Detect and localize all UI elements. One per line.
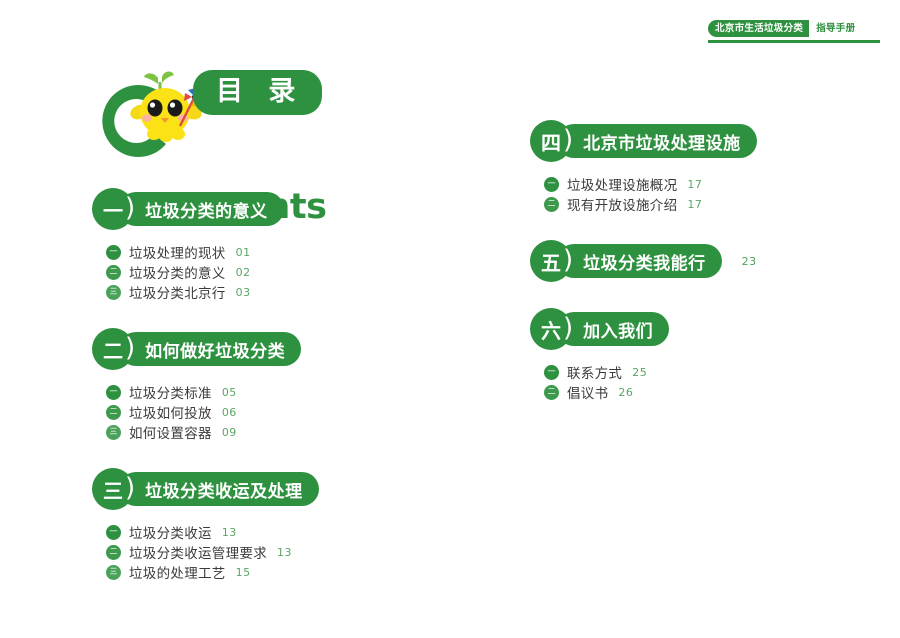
item-page-number: 05: [222, 386, 237, 399]
item-bullet-icon: 一: [106, 525, 121, 540]
item-page-number: 03: [236, 286, 251, 299]
contents-logo: 目 录 ontents: [92, 62, 342, 167]
section-arc-icon: ): [563, 315, 573, 341]
item-bullet-icon: 二: [106, 265, 121, 280]
section-arc-icon: ): [125, 335, 135, 361]
item-label: 垃圾如何投放: [129, 402, 212, 422]
header-badge: 北京市生活垃圾分类: [708, 20, 809, 38]
header-underline: [708, 40, 880, 43]
item-bullet-icon: 一: [106, 385, 121, 400]
item-page-number: 25: [632, 366, 647, 379]
toc-section: 三)垃圾分类收运及处理一垃圾分类收运13二垃圾分类收运管理要求13三垃圾的处理工…: [92, 468, 422, 608]
toc-item[interactable]: 一垃圾处理的现状01: [106, 242, 422, 262]
item-label: 现有开放设施介绍: [567, 194, 677, 214]
section-title: 如何做好垃圾分类: [119, 332, 301, 366]
item-bullet-icon: 三: [106, 565, 121, 580]
section-title: 垃圾分类收运及处理: [119, 472, 319, 506]
toc-section-header[interactable]: 五)垃圾分类我能行23: [530, 240, 860, 282]
toc-item[interactable]: 一垃圾分类收运13: [106, 522, 422, 542]
item-page-number: 15: [236, 566, 251, 579]
header-subtitle: 指导手册: [809, 24, 855, 34]
item-page-number: 13: [277, 546, 292, 559]
section-arc-icon: ): [125, 195, 135, 221]
toc-column-right: 四)北京市垃圾处理设施一垃圾处理设施概况17二现有开放设施介绍17五)垃圾分类我…: [530, 120, 860, 428]
section-arc-icon: ): [563, 127, 573, 153]
toc-section-header[interactable]: 三)垃圾分类收运及处理: [92, 468, 422, 510]
toc-column-left: 一)垃圾分类的意义一垃圾处理的现状01二垃圾分类的意义02三垃圾分类北京行03二…: [92, 188, 422, 608]
item-page-number: 17: [687, 198, 702, 211]
toc-item[interactable]: 一垃圾分类标准05: [106, 382, 422, 402]
toc-item[interactable]: 三垃圾的处理工艺15: [106, 562, 422, 582]
toc-section: 二)如何做好垃圾分类一垃圾分类标准05二垃圾如何投放06三如何设置容器09: [92, 328, 422, 468]
item-label: 联系方式: [567, 362, 622, 382]
section-title: 垃圾分类的意义: [119, 192, 284, 226]
item-label: 垃圾分类收运: [129, 522, 212, 542]
toc-item[interactable]: 二垃圾如何投放06: [106, 402, 422, 422]
item-bullet-icon: 一: [544, 365, 559, 380]
item-label: 垃圾的处理工艺: [129, 562, 226, 582]
toc-section: 一)垃圾分类的意义一垃圾处理的现状01二垃圾分类的意义02三垃圾分类北京行03: [92, 188, 422, 328]
section-spacer: [530, 282, 860, 308]
item-label: 垃圾处理的现状: [129, 242, 226, 262]
contents-badge-cn: 目 录: [193, 70, 322, 115]
toc-item-list: 一垃圾处理设施概况17二现有开放设施介绍17: [530, 174, 860, 214]
item-label: 垃圾分类北京行: [129, 282, 226, 302]
item-bullet-icon: 一: [106, 245, 121, 260]
toc-section: 六)加入我们一联系方式25二倡议书26: [530, 308, 860, 428]
item-label: 如何设置容器: [129, 422, 212, 442]
section-page-number: 23: [742, 255, 757, 268]
item-page-number: 26: [618, 386, 633, 399]
item-bullet-icon: 二: [106, 405, 121, 420]
toc-section: 四)北京市垃圾处理设施一垃圾处理设施概况17二现有开放设施介绍17: [530, 120, 860, 240]
toc-item[interactable]: 二垃圾分类收运管理要求13: [106, 542, 422, 562]
toc-item-list: 一垃圾分类标准05二垃圾如何投放06三如何设置容器09: [92, 382, 422, 442]
toc-section-header[interactable]: 四)北京市垃圾处理设施: [530, 120, 860, 162]
item-page-number: 02: [236, 266, 251, 279]
toc-item[interactable]: 三如何设置容器09: [106, 422, 422, 442]
toc-item-list: 一垃圾分类收运13二垃圾分类收运管理要求13三垃圾的处理工艺15: [92, 522, 422, 582]
item-label: 倡议书: [567, 382, 608, 402]
item-bullet-icon: 三: [106, 425, 121, 440]
section-spacer: [92, 582, 422, 608]
item-label: 垃圾处理设施概况: [567, 174, 677, 194]
section-title: 垃圾分类我能行: [557, 244, 722, 278]
item-label: 垃圾分类收运管理要求: [129, 542, 267, 562]
toc-item[interactable]: 一联系方式25: [544, 362, 860, 382]
section-spacer: [92, 442, 422, 468]
section-arc-icon: ): [563, 247, 573, 273]
section-spacer: [530, 214, 860, 240]
page-header: 北京市生活垃圾分类 指导手册: [708, 20, 880, 42]
toc-section: 五)垃圾分类我能行23: [530, 240, 860, 308]
item-bullet-icon: 二: [544, 385, 559, 400]
toc-item[interactable]: 二垃圾分类的意义02: [106, 262, 422, 282]
item-bullet-icon: 一: [544, 177, 559, 192]
toc-item-list: 一垃圾处理的现状01二垃圾分类的意义02三垃圾分类北京行03: [92, 242, 422, 302]
section-title: 加入我们: [557, 312, 669, 346]
toc-item[interactable]: 三垃圾分类北京行03: [106, 282, 422, 302]
item-page-number: 17: [687, 178, 702, 191]
toc-section-header[interactable]: 六)加入我们: [530, 308, 860, 350]
item-page-number: 09: [222, 426, 237, 439]
toc-item[interactable]: 二现有开放设施介绍17: [544, 194, 860, 214]
toc-item-list: 一联系方式25二倡议书26: [530, 362, 860, 402]
section-spacer: [530, 402, 860, 428]
item-label: 垃圾分类的意义: [129, 262, 226, 282]
item-bullet-icon: 三: [106, 285, 121, 300]
toc-section-header[interactable]: 一)垃圾分类的意义: [92, 188, 422, 230]
item-page-number: 06: [222, 406, 237, 419]
item-bullet-icon: 二: [106, 545, 121, 560]
item-label: 垃圾分类标准: [129, 382, 212, 402]
header-row: 北京市生活垃圾分类 指导手册: [708, 20, 880, 37]
item-page-number: 13: [222, 526, 237, 539]
section-title: 北京市垃圾处理设施: [557, 124, 757, 158]
toc-item[interactable]: 一垃圾处理设施概况17: [544, 174, 860, 194]
section-arc-icon: ): [125, 475, 135, 501]
toc-item[interactable]: 二倡议书26: [544, 382, 860, 402]
item-page-number: 01: [236, 246, 251, 259]
toc-section-header[interactable]: 二)如何做好垃圾分类: [92, 328, 422, 370]
section-spacer: [92, 302, 422, 328]
item-bullet-icon: 二: [544, 197, 559, 212]
